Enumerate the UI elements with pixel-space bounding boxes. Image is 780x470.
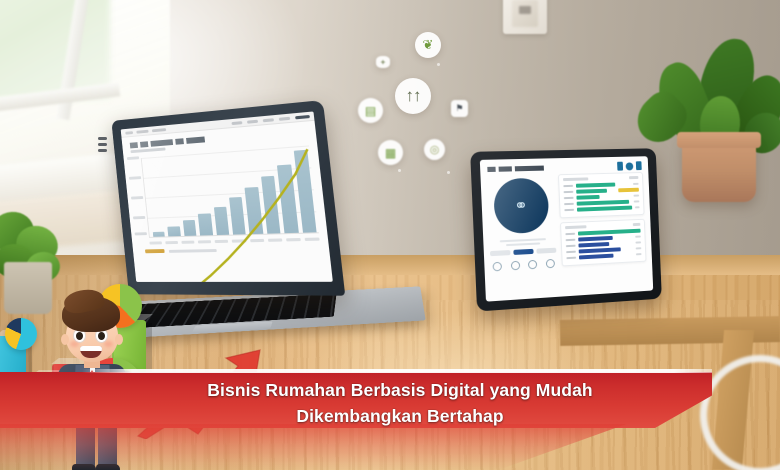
laptop-ports xyxy=(98,134,120,148)
spark-icon: ✦ xyxy=(376,56,390,68)
tablet-blue-chart-card xyxy=(560,219,647,267)
tablet-screen[interactable]: ⚭ xyxy=(480,156,653,301)
tablet-avatar-circle: ⚭ xyxy=(493,178,550,235)
tag-icon: ⚑ xyxy=(451,100,468,117)
tablet-left-iconrow[interactable] xyxy=(490,259,557,272)
tablet-dashboard-title xyxy=(487,166,544,172)
tablet-device: ⚭ xyxy=(474,150,664,305)
laptop-browser-bar xyxy=(121,111,315,137)
tablet-icon-3 xyxy=(528,260,537,270)
coin-icon: ◎ xyxy=(424,139,445,160)
tablet-green-chart-card xyxy=(558,172,645,218)
thumbnail-scene: ⚭ xyxy=(0,0,780,470)
pie-chart-small-cyan xyxy=(5,318,37,350)
tablet-header-icons[interactable] xyxy=(617,161,642,170)
tablet-icon-4 xyxy=(546,259,555,269)
chart-icon: ▦ xyxy=(378,140,403,165)
laptop-screen[interactable] xyxy=(121,111,333,281)
laptop-growth-chart xyxy=(141,145,319,237)
money-icon: ▤ xyxy=(358,98,383,123)
laptop-nav-right xyxy=(231,115,309,125)
leaf-icon: ❦ xyxy=(415,32,441,58)
tablet-left-panel: ⚭ xyxy=(487,174,557,274)
terracotta-pot xyxy=(682,140,756,202)
tablet-icon-1 xyxy=(492,262,502,272)
ear-right xyxy=(115,334,123,345)
arrows-up-icon: ↑↑ xyxy=(395,78,431,114)
sparkle-dot-1 xyxy=(437,63,440,66)
sparkle-dot-3 xyxy=(447,171,450,174)
light-switch-rocker xyxy=(519,6,531,14)
banner-title-line1: Bisnis Rumahan Berbasis Digital yang Mud… xyxy=(207,380,592,400)
banner-top-highlight xyxy=(82,369,712,373)
cheek-right xyxy=(104,341,113,347)
sparkle-dot-2 xyxy=(398,169,401,172)
laptop-chart-trendline xyxy=(142,145,330,281)
tablet-right-panel xyxy=(558,172,647,271)
banner-title-line2: Dikembangkan Bertahap xyxy=(90,404,710,430)
cheek-left xyxy=(70,341,79,347)
tablet-left-pills[interactable] xyxy=(490,248,556,257)
laptop-dashboard-subtitle xyxy=(130,148,165,154)
laptop-lid xyxy=(111,100,345,296)
tablet-left-textlines xyxy=(489,238,555,247)
tablet-body: ⚭ xyxy=(470,148,662,311)
ear-left xyxy=(61,334,69,345)
banner-title-text: Bisnis Rumahan Berbasis Digital yang Mud… xyxy=(90,378,710,430)
laptop-dashboard-title xyxy=(130,136,205,148)
tablet-icon-2 xyxy=(510,261,519,271)
